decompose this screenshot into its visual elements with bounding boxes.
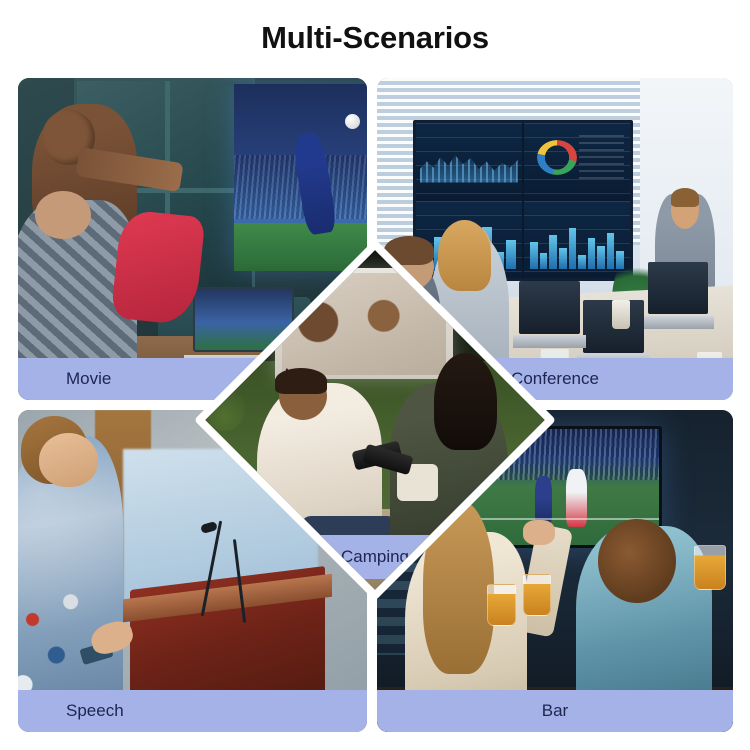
donut-chart-icon xyxy=(537,140,577,175)
panel-label-band-speech: Speech xyxy=(18,690,367,732)
panel-label-speech: Speech xyxy=(66,701,124,721)
panel-label-conference: Conference xyxy=(511,369,599,389)
beer-glass-icon xyxy=(487,584,515,626)
beer-glass-icon xyxy=(523,574,551,616)
panel-label-bar: Bar xyxy=(542,701,568,721)
football-icon xyxy=(345,114,360,129)
page-title: Multi-Scenarios xyxy=(0,20,750,56)
panel-label-movie: Movie xyxy=(66,369,111,389)
multi-scenarios-collage: Multi-Scenarios xyxy=(0,0,750,750)
coffee-cup-icon xyxy=(612,300,630,329)
laptop-icon xyxy=(519,281,580,349)
projected-football-screen xyxy=(234,84,367,271)
panel-label-band-bar: Bar xyxy=(377,690,733,732)
panel-label-camping: Camping xyxy=(341,547,409,567)
beer-glass-icon xyxy=(694,545,726,590)
laptop-icon xyxy=(648,262,709,330)
